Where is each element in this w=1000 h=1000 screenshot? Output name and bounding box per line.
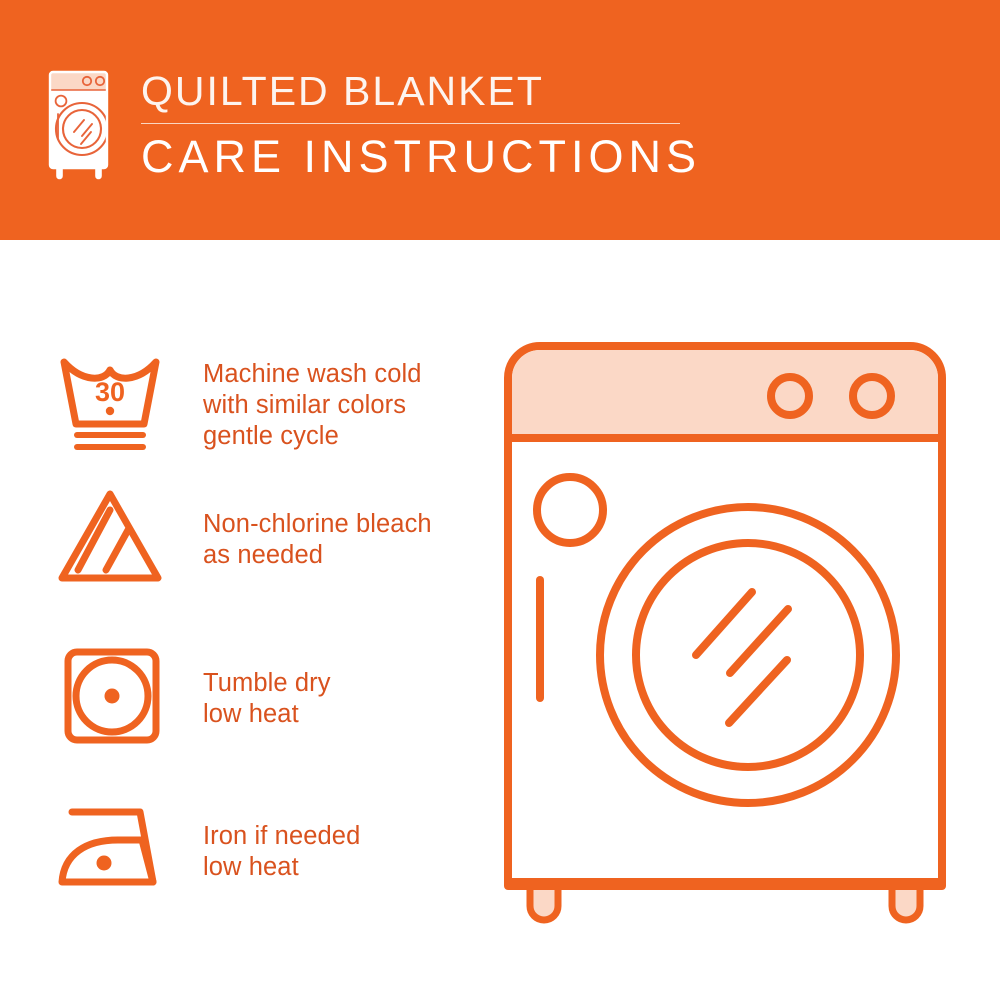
bleach-triangle-icon <box>52 484 168 588</box>
header-banner: QUILTED BLANKET CARE INSTRUCTIONS <box>0 0 1000 240</box>
care-instruction-list: 30 Machine wash cold with similar colors… <box>0 240 500 1000</box>
care-text-wash: Machine wash cold with similar colors ge… <box>203 359 422 452</box>
page-title-secondary: CARE INSTRUCTIONS <box>141 131 701 183</box>
care-row-bleach: Non-chlorine bleach as needed <box>0 476 500 596</box>
iron-icon <box>52 800 168 904</box>
care-text-iron: Iron if needed low heat <box>203 821 360 883</box>
care-instructions-page: QUILTED BLANKET CARE INSTRUCTIONS 30 <box>0 0 1000 1000</box>
tumble-dry-icon <box>52 644 168 748</box>
care-row-dry: Tumble dry low heat <box>0 638 500 758</box>
washing-machine-icon <box>44 66 116 184</box>
care-text-dry: Tumble dry low heat <box>203 668 331 730</box>
care-row-iron: Iron if needed low heat <box>0 788 500 908</box>
machine-control-panel <box>512 350 938 438</box>
care-text-bleach: Non-chlorine bleach as needed <box>203 509 432 571</box>
wash-tub-icon: 30 <box>52 352 168 456</box>
wash-temperature-label: 30 <box>95 377 125 407</box>
care-row-wash: 30 Machine wash cold with similar colors… <box>0 344 500 464</box>
title-divider <box>141 123 680 124</box>
header-title-block: QUILTED BLANKET CARE INSTRUCTIONS <box>141 68 701 183</box>
washing-machine-illustration <box>490 330 960 940</box>
page-title-primary: QUILTED BLANKET <box>141 68 701 114</box>
